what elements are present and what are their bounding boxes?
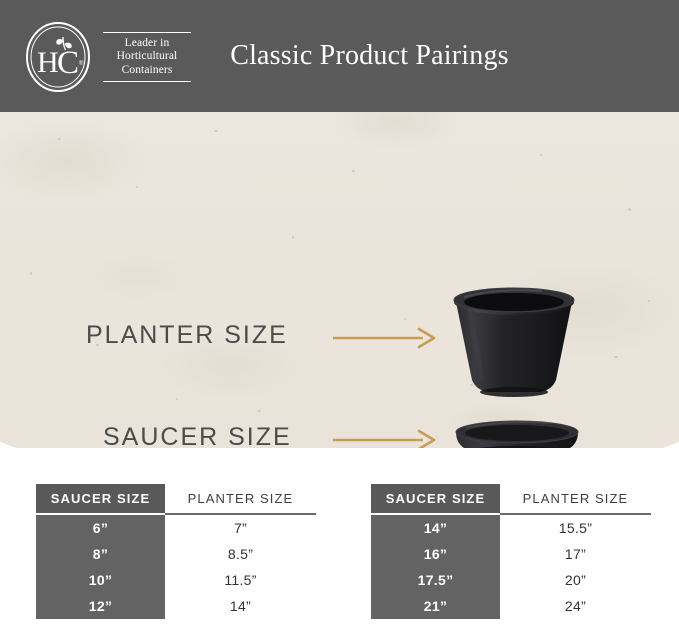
cell-planter-size: 7” <box>165 514 316 541</box>
texture-speck <box>136 186 138 188</box>
column-header-saucer-size: SAUCER SIZE <box>371 484 500 514</box>
table-row: 10” 11.5” <box>36 567 316 593</box>
cell-saucer-size: 6” <box>36 514 165 541</box>
cell-saucer-size: 8” <box>36 541 165 567</box>
cell-planter-size: 8.5” <box>165 541 316 567</box>
table-row: 12” 14” <box>36 593 316 619</box>
cell-planter-size: 17” <box>500 541 651 567</box>
texture-speck <box>352 170 355 172</box>
saucer-size-label: SAUCER SIZE <box>103 423 292 448</box>
cell-planter-size: 20” <box>500 567 651 593</box>
table-header-row: SAUCER SIZE PLANTER SIZE <box>36 484 316 514</box>
cell-planter-size: 11.5” <box>165 567 316 593</box>
table-row: 8” 8.5” <box>36 541 316 567</box>
texture-speck <box>648 300 650 302</box>
column-header-planter-size: PLANTER SIZE <box>500 484 651 514</box>
texture-speck <box>258 410 261 412</box>
cell-saucer-size: 12” <box>36 593 165 619</box>
size-tables-section: SAUCER SIZE PLANTER SIZE 6” 7” 8” 8.5” 1… <box>0 448 679 636</box>
cell-saucer-size: 14” <box>371 514 500 541</box>
table-row: 16” 17” <box>371 541 651 567</box>
saucer-arrow-icon <box>333 429 437 448</box>
texture-speck <box>628 208 631 211</box>
size-table-left: SAUCER SIZE PLANTER SIZE 6” 7” 8” 8.5” 1… <box>36 484 316 619</box>
cell-planter-size: 15.5” <box>500 514 651 541</box>
planter-arrow-icon <box>333 327 437 349</box>
hero-section: PLANTER SIZE SAUCER SIZE <box>0 112 679 448</box>
planter-size-label: PLANTER SIZE <box>86 321 288 350</box>
cell-saucer-size: 10” <box>36 567 165 593</box>
column-header-saucer-size: SAUCER SIZE <box>36 484 165 514</box>
cell-saucer-size: 17.5” <box>371 567 500 593</box>
size-table-right: SAUCER SIZE PLANTER SIZE 14” 15.5” 16” 1… <box>371 484 651 619</box>
table-header-row: SAUCER SIZE PLANTER SIZE <box>371 484 651 514</box>
texture-speck <box>176 398 178 400</box>
column-header-planter-size: PLANTER SIZE <box>165 484 316 514</box>
texture-speck <box>292 236 294 239</box>
page-title: Classic Product Pairings <box>0 0 679 112</box>
texture-speck <box>614 356 618 358</box>
table-row: 17.5” 20” <box>371 567 651 593</box>
table-row: 6” 7” <box>36 514 316 541</box>
texture-speck <box>540 154 542 156</box>
texture-speck <box>214 130 218 132</box>
page-header: H C ® Leader in Horticultural Containers… <box>0 0 679 112</box>
table-row: 14” 15.5” <box>371 514 651 541</box>
planter-pot-image <box>446 286 582 398</box>
texture-speck <box>30 272 32 275</box>
texture-speck <box>58 138 61 140</box>
table-row: 21” 24” <box>371 593 651 619</box>
cell-saucer-size: 16” <box>371 541 500 567</box>
texture-speck <box>404 318 406 320</box>
cell-saucer-size: 21” <box>371 593 500 619</box>
cell-planter-size: 14” <box>165 593 316 619</box>
saucer-image <box>452 418 582 448</box>
cell-planter-size: 24” <box>500 593 651 619</box>
